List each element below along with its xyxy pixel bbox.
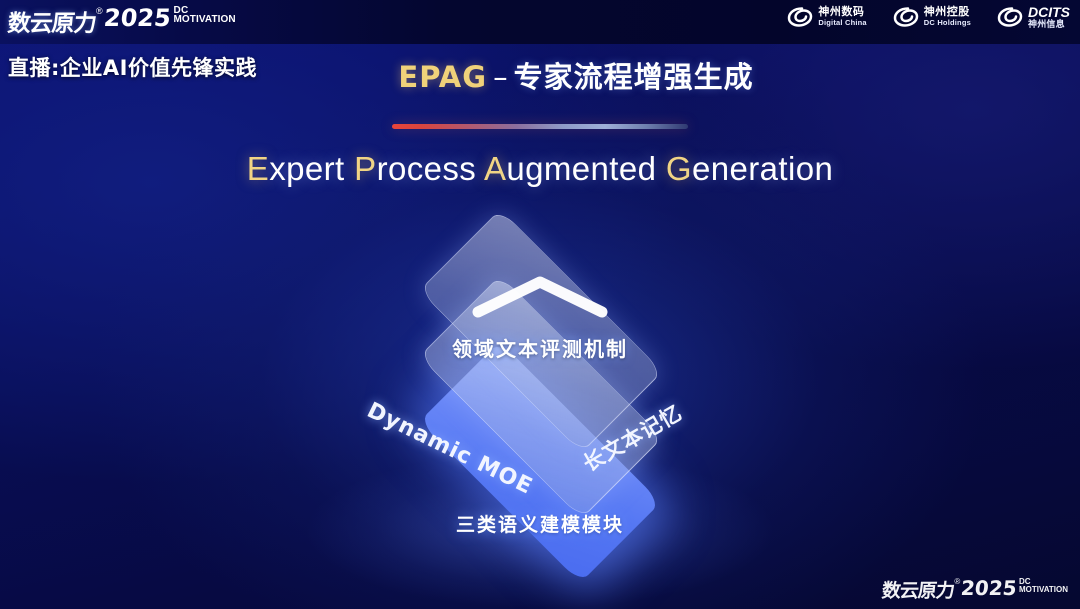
page-subtitle: Expert Process Augmented Generation	[0, 150, 1080, 188]
brand-digital-china-en: Digital China	[818, 19, 866, 27]
subtitle-rest-augmented: ugmented	[506, 150, 656, 187]
subtitle-word-generation: Generation	[666, 150, 833, 187]
chevron-up-icon	[468, 274, 612, 318]
event-logo-dcmotivation: DC MOTIVATION	[173, 6, 235, 24]
layer-label-top: 领域文本评测机制	[0, 333, 1080, 362]
brand-dc-holdings-en: DC Holdings	[924, 19, 971, 27]
divider-line	[392, 124, 688, 129]
brand-dcits-text: DCITS 神州信息	[1028, 5, 1070, 29]
event-logo-cn: 数云原力	[6, 4, 98, 38]
subtitle-word-augmented: Augmented	[484, 150, 656, 187]
event-logo-year: 2025	[102, 4, 172, 32]
subtitle-cap-g: G	[666, 150, 692, 187]
swirl-icon	[893, 6, 919, 28]
brand-dc-holdings: 神州控股 DC Holdings	[893, 6, 971, 28]
subtitle-word-process: Process	[354, 150, 476, 187]
layer-label-bottom: 三类语义建模模块	[0, 510, 1080, 537]
subtitle-cap-p: P	[354, 150, 376, 187]
brand-dcits: DCITS 神州信息	[997, 5, 1070, 29]
title-acronym: EPAG	[398, 60, 487, 94]
brand-digital-china-text: 神州数码 Digital China	[818, 7, 866, 26]
brand-dcits-cn: DCITS	[1028, 5, 1070, 20]
watermark-registered: ®	[954, 577, 960, 586]
watermark-year: 2025	[960, 576, 1018, 600]
subtitle-rest-generation: eneration	[692, 150, 833, 187]
watermark-dcmotivation: DC MOTIVATION	[1019, 578, 1068, 594]
subtitle-cap-e: E	[247, 150, 269, 187]
brand-digital-china: 神州数码 Digital China	[787, 6, 866, 28]
swirl-icon	[787, 6, 813, 28]
live-stream-label: 直播:企业AI价值先锋实践	[8, 52, 257, 82]
title-dash: –	[493, 60, 508, 94]
subtitle-word-expert: Expert	[247, 150, 345, 187]
header-bar: 数云原力 ® 2025 DC MOTIVATION 神州数码 Digital C…	[0, 0, 1080, 44]
subtitle-cap-a: A	[484, 150, 506, 187]
slide-canvas: 数云原力 ® 2025 DC MOTIVATION 神州数码 Digital C…	[0, 0, 1080, 609]
event-logo-motivation: MOTIVATION	[173, 15, 235, 24]
brand-dc-holdings-text: 神州控股 DC Holdings	[924, 7, 971, 26]
subtitle-rest-expert: xpert	[269, 150, 344, 187]
event-logo: 数云原力 ® 2025 DC MOTIVATION	[8, 4, 236, 38]
title-chinese: 专家流程增强生成	[514, 60, 754, 94]
subtitle-rest-process: rocess	[377, 150, 477, 187]
watermark-logo: 数云原力 ® 2025 DC MOTIVATION	[882, 576, 1068, 603]
brand-dcits-en: 神州信息	[1028, 20, 1070, 29]
brand-logo-group: 神州数码 Digital China 神州控股 DC Holdings	[787, 5, 1070, 29]
watermark-cn: 数云原力	[881, 576, 956, 603]
swirl-icon	[997, 6, 1023, 28]
watermark-motivation: MOTIVATION	[1019, 586, 1068, 594]
